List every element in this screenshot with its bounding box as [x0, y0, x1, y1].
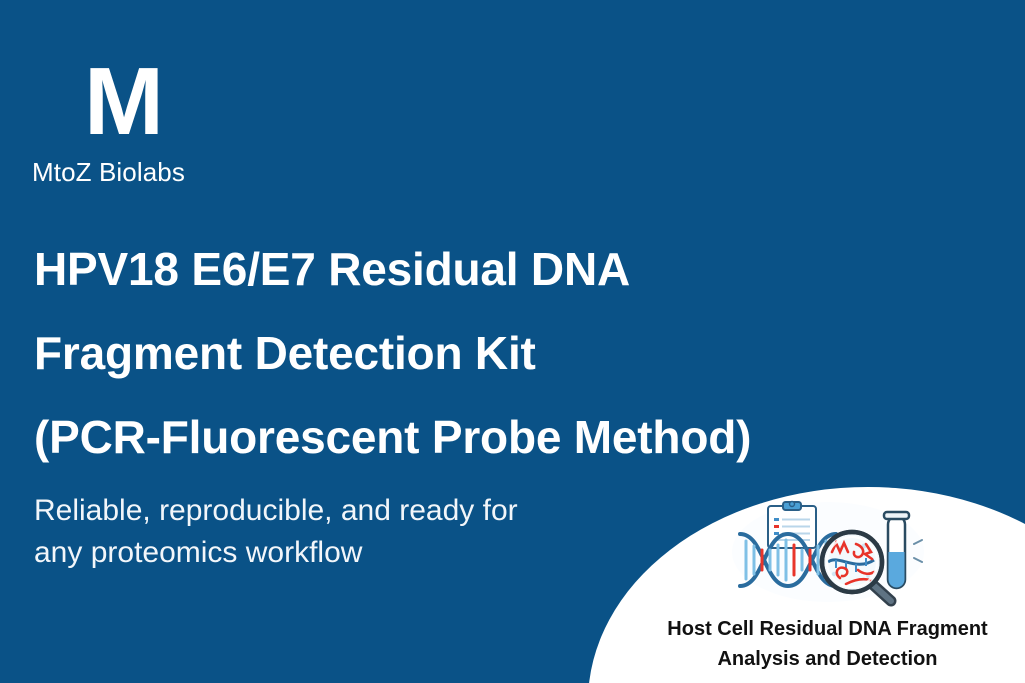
promo-caption-line-2: Analysis and Detection	[630, 644, 1025, 674]
subtitle-line-2: any proteomics workflow	[34, 532, 654, 574]
brand-logo[interactable]: M MtoZ Biolabs	[32, 58, 185, 188]
headline-line-3: (PCR-Fluorescent Probe Method)	[34, 395, 934, 479]
headline-line-1: HPV18 E6/E7 Residual DNA	[34, 227, 934, 311]
letter-m-logo-icon: M	[84, 58, 185, 146]
promo-banner: M MtoZ Biolabs HPV18 E6/E7 Residual DNA …	[0, 0, 1025, 683]
promo-callout: Host Cell Residual DNA Fragment Analysis…	[630, 500, 1025, 674]
page-title: HPV18 E6/E7 Residual DNA Fragment Detect…	[34, 227, 934, 479]
subtitle-line-1: Reliable, reproducible, and ready for	[34, 490, 654, 532]
lab-analysis-illustration	[728, 500, 928, 608]
page-subtitle: Reliable, reproducible, and ready for an…	[34, 490, 654, 574]
headline-line-2: Fragment Detection Kit	[34, 311, 934, 395]
company-name: MtoZ Biolabs	[32, 156, 185, 188]
promo-caption: Host Cell Residual DNA Fragment Analysis…	[630, 614, 1025, 674]
promo-caption-line-1: Host Cell Residual DNA Fragment	[630, 614, 1025, 644]
